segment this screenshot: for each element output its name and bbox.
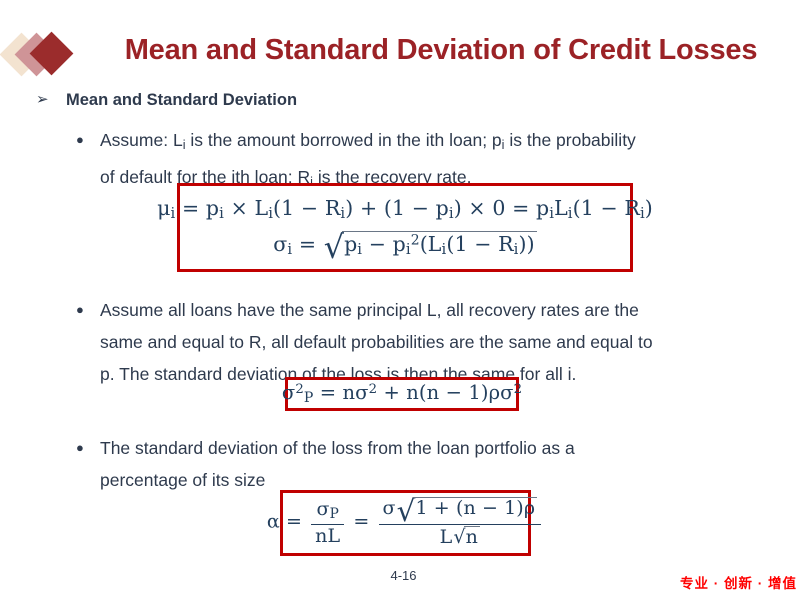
symbol-L: L <box>440 526 453 548</box>
bullet-item-percentage-of-size: ● The standard deviation of the loss fro… <box>0 432 807 496</box>
op-equals: = <box>286 511 302 533</box>
op-minus: − <box>412 196 429 220</box>
paren-open: (1 <box>446 232 467 256</box>
fraction-numerator: σP <box>311 499 344 523</box>
op-equals: = <box>353 511 369 533</box>
round-bullet-icon: ● <box>76 294 84 326</box>
symbol-L: L <box>428 232 442 256</box>
formula-box-portfolio-variance: σ2P = nσ2 + n(n − 1)ρσ2 <box>285 377 519 411</box>
square-root-group: √pi − pi2(Li(1 − Ri)) <box>323 231 537 261</box>
paren-close: ) <box>345 196 353 220</box>
three-diamonds-logo-icon <box>4 28 76 80</box>
symbol-sigma: σ <box>355 381 368 404</box>
fraction-sigmaP-over-nL: σP nL <box>311 499 344 547</box>
symbol-sigma: σ <box>383 497 396 519</box>
symbol-p: p <box>436 196 449 220</box>
radicand: n <box>464 526 480 548</box>
round-bullet-icon: ● <box>76 432 84 464</box>
formula-mean-expression: μi = pi × Li(1 − Ri) + (1 − pi) × 0 = pi… <box>157 196 653 222</box>
op-plus: + <box>383 381 399 404</box>
subscript-P: P <box>304 391 314 407</box>
symbol-alpha: α <box>267 511 280 533</box>
symbol-sigma: σ <box>500 381 513 404</box>
op-times: × <box>231 196 248 220</box>
symbol-R: R <box>624 196 640 220</box>
symbol-p: p <box>393 232 406 256</box>
paren-open: (1 <box>273 196 294 220</box>
fraction-denominator: L√n <box>379 524 542 548</box>
symbol-L: L <box>255 196 269 220</box>
page-title: Mean and Standard Deviation of Credit Lo… <box>80 22 802 78</box>
symbol-n: n <box>406 381 419 404</box>
outline-level1-label: Mean and Standard Deviation <box>66 91 297 109</box>
symbol-R: R <box>325 196 341 220</box>
radical-icon: √ <box>324 236 344 261</box>
square-root-group: √1 + (n − 1)ρ <box>396 497 537 523</box>
op-times: × <box>468 196 485 220</box>
slide-header: Mean and Standard Deviation of Credit Lo… <box>0 22 807 84</box>
formula-sigma-expression: σi = √pi − pi2(Li(1 − Ri)) <box>273 231 536 261</box>
bullet-line: Assume: Li is the amount borrowed in the… <box>100 124 787 161</box>
op-minus: − <box>601 196 618 220</box>
bullet-line: same and equal to R, all default probabi… <box>100 326 787 358</box>
fraction-numerator: σ√1 + (n − 1)ρ <box>379 497 542 524</box>
paren-close: ) <box>454 196 462 220</box>
number-one: 1 <box>468 381 481 404</box>
subscript-P: P <box>330 506 339 522</box>
formula-alpha: α = σP nL = σ√1 + (n − 1)ρ L√n <box>267 497 544 548</box>
paren-open: (1 <box>384 196 405 220</box>
outline-level1-item: ➢ Mean and Standard Deviation <box>0 86 807 114</box>
paren-close: ) <box>645 196 653 220</box>
brand-slogan: 专业 · 创新 · 增值 <box>680 572 797 592</box>
formula-portfolio-variance: σ2P = nσ2 + n(n − 1)ρσ2 <box>282 381 522 406</box>
op-equals: = <box>182 196 199 220</box>
formula-box-mean-and-sigma: μi = pi × Li(1 − Ri) + (1 − pi) × 0 = pi… <box>177 183 633 272</box>
fraction-denominator: nL <box>311 524 344 547</box>
fraction-sigma-root-over-L-root-n: σ√1 + (n − 1)ρ L√n <box>379 497 542 548</box>
bullet-line: The standard deviation of the loss from … <box>100 432 787 464</box>
op-minus: − <box>446 381 462 404</box>
exponent: 2 <box>514 383 523 398</box>
slide-body: ➢ Mean and Standard Deviation ● Assume: … <box>0 86 807 496</box>
symbol-p: p <box>206 196 219 220</box>
paren-close: ) <box>519 232 527 256</box>
paren-close: ) <box>527 232 535 256</box>
op-minus: − <box>301 196 318 220</box>
op-minus: − <box>369 232 386 256</box>
paren-open: (n <box>419 381 439 404</box>
number-zero: 0 <box>492 196 505 220</box>
symbol-sigma: σ <box>317 498 330 520</box>
radicand: 1 + (n − 1)ρ <box>413 497 537 519</box>
formula-box-alpha-percentage: α = σP nL = σ√1 + (n − 1)ρ L√n <box>280 490 531 556</box>
op-equals: = <box>320 381 336 404</box>
op-plus: + <box>360 196 377 220</box>
paren-close: ) <box>481 381 489 404</box>
round-bullet-icon: ● <box>76 124 84 156</box>
paren-open: ( <box>420 232 428 256</box>
symbol-sigma: σ <box>273 232 287 256</box>
symbol-mu: μ <box>157 196 170 220</box>
symbol-p: p <box>344 232 357 256</box>
paren-open: (1 <box>573 196 594 220</box>
exponent: 2 <box>369 383 378 398</box>
symbol-R: R <box>498 232 514 256</box>
bullet-line: Assume all loans have the same principal… <box>100 294 787 326</box>
op-equals: = <box>299 232 316 256</box>
symbol-sigma: σ <box>282 381 295 404</box>
symbol-n: n <box>343 381 356 404</box>
op-equals: = <box>512 196 529 220</box>
op-minus: − <box>474 232 491 256</box>
radicand: pi − pi2(Li(1 − Ri)) <box>342 231 537 258</box>
exponent: 2 <box>295 383 304 398</box>
symbol-rho: ρ <box>489 381 501 404</box>
symbol-L: L <box>554 196 568 220</box>
symbol-p: p <box>536 196 549 220</box>
square-root-group: √n <box>452 526 480 548</box>
arrow-bullet-icon: ➢ <box>36 86 49 114</box>
bullet-item-same-principal: ● Assume all loans have the same princip… <box>0 294 807 390</box>
